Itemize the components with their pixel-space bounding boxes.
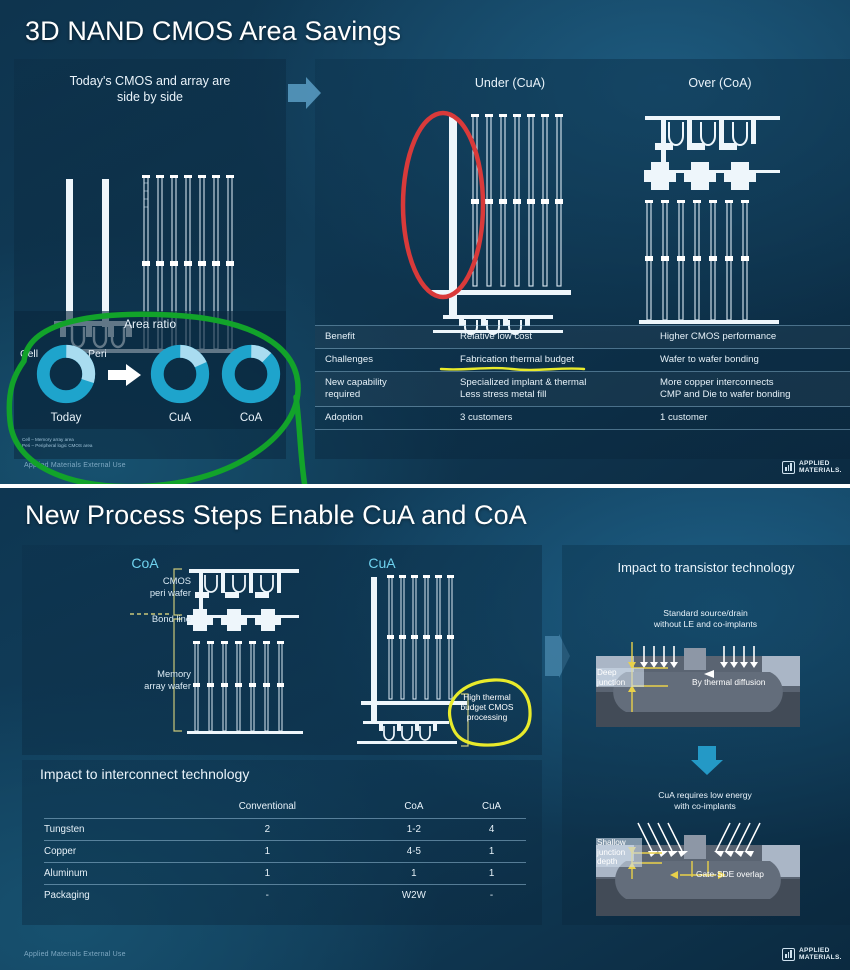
col-header-conventional: Conventional (164, 798, 371, 819)
table-row: Tungsten 2 1-2 4 (44, 819, 526, 841)
column-header-under-cua: Under (CuA) (415, 76, 605, 90)
col-header-cua: CuA (457, 798, 526, 819)
donut-label-today: Today (26, 412, 106, 424)
page-title-bottom: New Process Steps Enable CuA and CoA (25, 500, 527, 531)
row-label: Challenges (315, 349, 450, 372)
caption-standard-source-drain: Standard source/drain without LE and co-… (608, 608, 803, 629)
row-label: New capability required (315, 372, 450, 407)
table-header-row: Conventional CoA CuA (44, 798, 526, 819)
cell-cua: - (457, 885, 526, 907)
row-coa-value: 1 customer (650, 407, 850, 430)
row-label: Benefit (315, 326, 450, 349)
annotation-cmos-peri-wafer: CMOS peri wafer (115, 575, 191, 598)
row-cua-value: Specialized implant & thermal Less stres… (450, 372, 650, 407)
row-coa-value: Wafer to wafer bonding (650, 349, 850, 372)
row-label-aluminum: Aluminum (44, 863, 164, 885)
row-cua-value: Relative low cost (450, 326, 650, 349)
cell-coa: 4-5 (371, 841, 458, 863)
donut-label-cua: CuA (140, 412, 220, 424)
page-title-top: 3D NAND CMOS Area Savings (25, 16, 401, 47)
row-label-packaging: Packaging (44, 885, 164, 907)
arrow-right-icon (288, 76, 322, 110)
process-head-cua: CuA (322, 555, 442, 571)
col-header-blank (44, 798, 164, 819)
cell-conventional: - (164, 885, 371, 907)
diagram-cua-cross-section (403, 104, 633, 334)
arrow-down-icon (690, 746, 724, 776)
cell-coa: 1-2 (371, 819, 458, 841)
row-coa-value: More copper interconnects CMP and Die to… (650, 372, 850, 407)
note-shallow-junction-depth: Shallow junction depth (596, 838, 642, 867)
logo-text-bottom: APPLIED MATERIALS. (799, 947, 842, 961)
table-row: Copper 1 4-5 1 (44, 841, 526, 863)
column-header-over-coa: Over (CoA) (625, 76, 815, 90)
arrow-right-icon-area-ratio (108, 363, 142, 387)
annotation-bond-line: Bond line (104, 613, 191, 625)
slide-new-process-steps: New Process Steps Enable CuA and CoA CoA… (0, 487, 850, 970)
external-use-label-top: Applied Materials External Use (24, 462, 126, 469)
table-row: Adoption 3 customers 1 customer (315, 407, 850, 430)
annotation-memory-array-wafer: Memory array wafer (104, 668, 191, 691)
diagram-coa-cross-section (625, 104, 835, 334)
area-ratio-title: Area ratio (14, 317, 286, 331)
row-cua-value: 3 customers (450, 407, 650, 430)
applied-materials-mark-icon (782, 948, 795, 961)
donut-chart-cua (150, 344, 210, 404)
cell-cua: 1 (457, 841, 526, 863)
applied-materials-logo-top: APPLIED MATERIALS. (782, 460, 842, 474)
interconnect-title: Impact to interconnect technology (40, 766, 249, 782)
external-use-label-bottom: Applied Materials External Use (24, 951, 126, 958)
table-interconnect-technology: Conventional CoA CuA Tungsten 2 1-2 4 Co… (44, 798, 526, 906)
table-row: Packaging - W2W - (44, 885, 526, 907)
table-row: Aluminum 1 1 1 (44, 863, 526, 885)
note-gate-sde-overlap: Gate-SDE overlap (696, 869, 764, 879)
table-row: New capability required Specialized impl… (315, 372, 850, 407)
annotation-yellow-underline (440, 365, 585, 372)
donut-label-coa: CoA (211, 412, 291, 424)
row-label-tungsten: Tungsten (44, 819, 164, 841)
caption-cua-low-energy: CuA requires low energy with co-implants (605, 790, 805, 811)
footnote-definitions: Cell – Memory array area Peri – Peripher… (22, 437, 92, 449)
applied-materials-logo-bottom: APPLIED MATERIALS. (782, 947, 842, 961)
cell-coa: 1 (371, 863, 458, 885)
donut-chart-today (36, 344, 96, 404)
cell-conventional: 1 (164, 863, 371, 885)
row-coa-value: Higher CMOS performance (650, 326, 850, 349)
cell-conventional: 2 (164, 819, 371, 841)
table-cua-coa-comparison: Benefit Relative low cost Higher CMOS pe… (315, 325, 850, 430)
table-row: Benefit Relative low cost Higher CMOS pe… (315, 326, 850, 349)
cell-conventional: 1 (164, 841, 371, 863)
row-label: Adoption (315, 407, 450, 430)
annotation-high-thermal-budget-text: High thermal budget CMOS processing (450, 692, 524, 722)
cell-cua: 1 (457, 863, 526, 885)
donut-chart-coa (221, 344, 281, 404)
cell-coa: W2W (371, 885, 458, 907)
row-label-copper: Copper (44, 841, 164, 863)
diagram-coa-stack (187, 565, 307, 745)
col-header-coa: CoA (371, 798, 458, 819)
applied-materials-mark-icon (782, 461, 795, 474)
transistor-title: Impact to transistor technology (562, 560, 850, 575)
note-by-thermal-diffusion: By thermal diffusion (692, 677, 765, 687)
logo-text-top: APPLIED MATERIALS. (799, 460, 842, 474)
cell-cua: 4 (457, 819, 526, 841)
slide-divider (0, 484, 850, 488)
today-caption: Today's CMOS and array are side by side (14, 73, 286, 105)
note-deep-junction: Deep junction (596, 668, 644, 687)
